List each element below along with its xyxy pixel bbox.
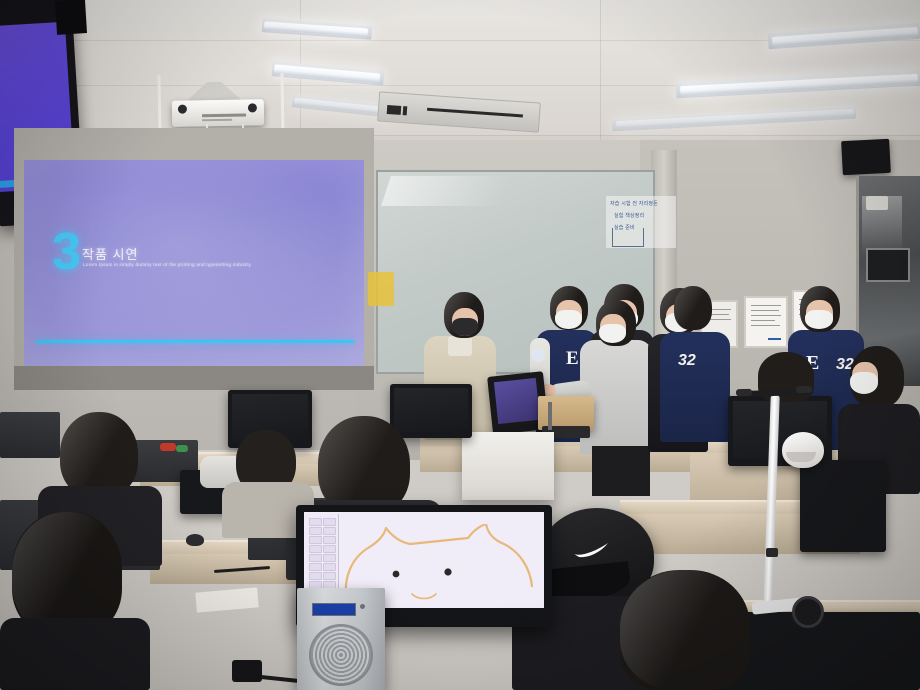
presenter-p1-mask xyxy=(452,318,478,336)
presenter-p6-jacket-number: 32 xyxy=(678,352,696,370)
door-control-panel xyxy=(866,248,910,282)
scooter-grip-right xyxy=(796,386,812,394)
tool-cell[interactable] xyxy=(309,536,322,544)
scooter-wheel xyxy=(792,596,824,628)
desk-papers xyxy=(195,587,259,612)
laptop-screen xyxy=(494,378,540,424)
white-pedestal xyxy=(462,432,554,500)
presenter-p1-collar xyxy=(448,336,472,356)
slide-title: 작품 시연 xyxy=(82,244,138,263)
tool-cell[interactable] xyxy=(323,518,336,526)
tool-cell[interactable] xyxy=(323,545,336,553)
tool-cell[interactable] xyxy=(323,563,336,571)
scooter-grip-left xyxy=(736,389,752,397)
tool-cell[interactable] xyxy=(323,572,336,580)
presenter-p2-mask xyxy=(555,310,582,329)
presenter-p6-body xyxy=(660,332,730,442)
wall-notice-1 xyxy=(744,296,788,348)
tool-cell[interactable] xyxy=(309,545,322,553)
classroom-scene: 3 작품 시연 Lorem Ipsum is simply dummy text… xyxy=(0,0,920,690)
tool-cell[interactable] xyxy=(309,518,322,526)
whiteboard-note-line-2: 실험 책상정리 xyxy=(614,212,644,219)
audience-a7-hair xyxy=(620,570,750,690)
green-item-on-desk xyxy=(176,445,188,452)
glass-reflection xyxy=(381,176,511,206)
tool-cell[interactable] xyxy=(309,572,322,580)
cat-eye-right xyxy=(444,568,451,575)
red-item-on-desk xyxy=(160,443,176,451)
presenter-p7-mask xyxy=(805,310,833,329)
cat-mouth xyxy=(412,594,436,599)
wall-display-mount xyxy=(55,0,87,35)
whiteboard-bracket xyxy=(612,228,644,247)
ceiling-projector xyxy=(172,99,264,127)
cardboard-prototype-device xyxy=(538,396,594,430)
nike-swoosh-icon xyxy=(572,542,610,558)
pc-power-button[interactable] xyxy=(360,604,365,609)
scooter-helmet xyxy=(782,432,824,468)
wall-poster-yellow xyxy=(368,272,394,306)
pc-fan-grille xyxy=(309,624,373,686)
tool-cell[interactable] xyxy=(323,527,336,535)
tool-cell[interactable] xyxy=(323,554,336,562)
whiteboard-note-line-1: 자습 시험 전 자리정돈 xyxy=(610,200,658,207)
tool-cell[interactable] xyxy=(309,554,322,562)
tool-cell[interactable] xyxy=(309,563,322,571)
tool-cell[interactable] xyxy=(323,536,336,544)
cat-eye-left xyxy=(393,571,400,578)
audience-a5-mask xyxy=(850,372,878,394)
slide-number: 3 xyxy=(52,226,79,278)
audience-a2-body xyxy=(0,618,150,690)
slide-subtitle: Lorem Ipsum is simply dummy text of the … xyxy=(83,262,252,267)
slide-accent-rule xyxy=(36,340,354,343)
presenter-p2-patch xyxy=(531,348,545,362)
screen-bottom-bar xyxy=(14,366,374,390)
desk-partition-1 xyxy=(0,412,60,458)
monitor-mid-right xyxy=(800,460,886,552)
presenter-p2-jacket-letter: E xyxy=(566,348,579,370)
power-adapter xyxy=(232,660,262,682)
monitor-back-2-screen xyxy=(394,388,468,432)
computer-mouse xyxy=(186,534,204,546)
presenter-p4-pants xyxy=(592,446,650,496)
presenter-p4-mask xyxy=(599,324,626,343)
tool-cell[interactable] xyxy=(309,527,322,535)
prototype-frame xyxy=(548,402,552,430)
pc-tower-lcd-display xyxy=(312,603,356,616)
wall-device xyxy=(866,196,888,210)
presenter-p6-hair xyxy=(674,286,712,330)
wall-speaker xyxy=(841,139,891,175)
scooter-logo xyxy=(766,548,778,557)
